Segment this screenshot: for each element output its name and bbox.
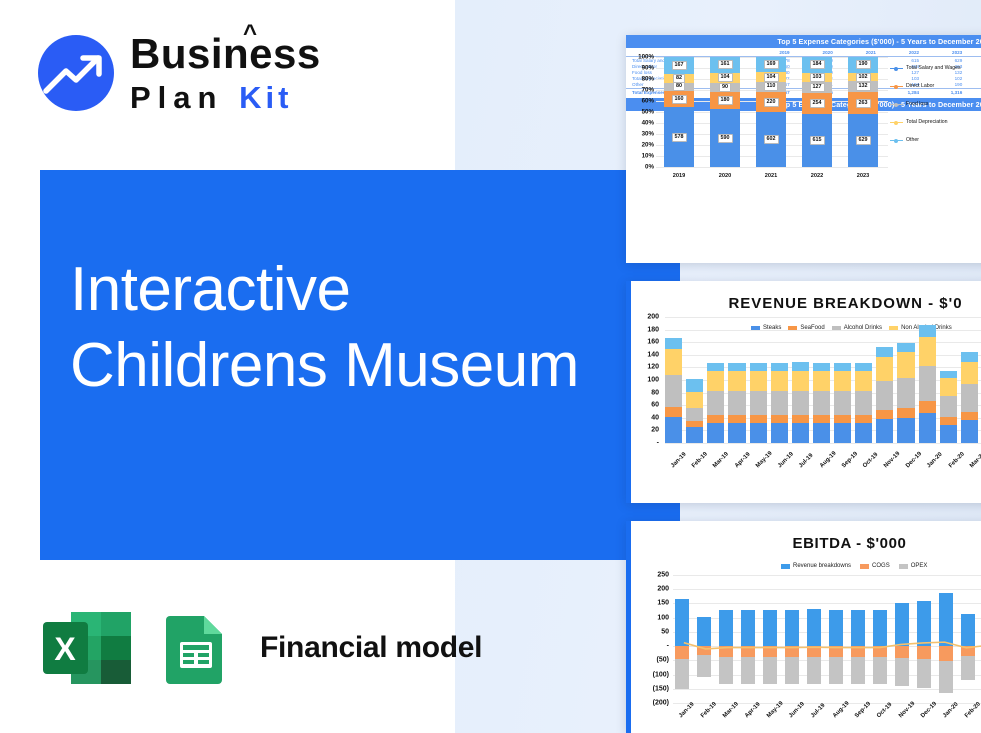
y-tick-label: 40%: [642, 120, 654, 127]
page-title: Interactive Childrens Museum: [70, 252, 610, 403]
microsoft-excel-icon: X: [38, 612, 138, 684]
bar-value-label: 629: [856, 136, 871, 145]
y-tick-label: 20%: [642, 142, 654, 149]
bar-column: [750, 317, 767, 443]
bar-segment: [728, 391, 745, 415]
bar-segment: [813, 415, 830, 423]
bar-segment: [897, 352, 914, 377]
legend-item: Direct Labor: [890, 83, 981, 89]
bar-column: [728, 317, 745, 443]
bar-segment: [834, 415, 851, 423]
brand-kit-text: Kit: [239, 80, 292, 115]
gridline: [656, 167, 888, 168]
bar-column: [876, 317, 893, 443]
bar-segment: [686, 408, 703, 421]
bar-value-label: 104: [718, 73, 733, 82]
bar-value-label: 184: [810, 60, 825, 69]
y-tick-label: 40: [651, 414, 659, 421]
bar-segment: 102: [848, 73, 878, 82]
y-tick-label: 140: [647, 351, 659, 358]
bar-segment: [897, 343, 914, 352]
legend-marker: [890, 86, 903, 87]
y-tick-label: -: [657, 440, 659, 447]
bar-segment: [876, 419, 893, 443]
gridline: [665, 443, 981, 444]
y-tick-label: 10%: [642, 153, 654, 160]
bar-segment: [665, 407, 682, 416]
svg-text:X: X: [54, 631, 76, 667]
bar-segment: [919, 401, 936, 413]
bar-segment: [686, 427, 703, 443]
bar-segment: [897, 408, 914, 418]
y-tick-label: 100: [657, 614, 669, 621]
expense-legend: Total Salary and WagesDirect LaborFood l…: [890, 65, 981, 155]
bar-segment: [961, 384, 978, 411]
y-tick-label: 0%: [645, 164, 654, 171]
bar-value-label: 578: [672, 133, 687, 142]
bar-segment: [961, 362, 978, 385]
bar-segment: [940, 371, 957, 378]
bar-segment: [771, 415, 788, 423]
bar-value-label: 590: [718, 134, 733, 143]
legend-label: Total Salary and Wages: [906, 65, 961, 71]
google-sheets-icon: [160, 612, 232, 684]
y-tick-label: 90%: [642, 65, 654, 72]
legend-label: Total Depreciation: [906, 119, 948, 125]
bar-segment: [919, 337, 936, 367]
revenue-breakdown-card[interactable]: REVENUE BREAKDOWN - $'0 SteaksSeaFoodAlc…: [626, 281, 981, 503]
y-tick-label: 80%: [642, 76, 654, 83]
table-header-row: 2019 2020 2021 2022 2023: [626, 48, 981, 57]
bar-segment: [771, 423, 788, 443]
bar-value-label: 103: [810, 73, 825, 82]
bar-segment: [771, 391, 788, 415]
x-tick-label: 2023: [848, 173, 878, 179]
y-tick-label: (100): [653, 671, 669, 678]
y-tick-label: 100: [647, 377, 659, 384]
y-tick-label: 30%: [642, 131, 654, 138]
bar-value-label: 160: [672, 95, 687, 104]
bar-segment: [940, 378, 957, 396]
bar-segment: [834, 363, 851, 371]
legend-label: COGS: [872, 563, 890, 569]
bar-value-label: 102: [856, 73, 871, 82]
bar-segment: [728, 415, 745, 423]
bar-segment: 180: [710, 92, 740, 110]
bar-segment: [876, 410, 893, 419]
x-tick-label: 2019: [664, 173, 694, 179]
bar-segment: [792, 391, 809, 415]
bar-segment: [876, 381, 893, 410]
legend-swatch: [781, 564, 790, 569]
bar-segment: 220: [756, 92, 786, 112]
bar-segment: 127: [802, 82, 832, 93]
ebitda-chart-title: EBITDA - $'000: [701, 535, 981, 552]
bar-column: 1841031272546152022: [802, 57, 832, 167]
bar-segment: [897, 378, 914, 408]
bar-segment: 263: [848, 92, 878, 114]
expense-stacked-percent-chart: 100%90%80%70%60%50%40%30%20%10%0% 167828…: [630, 57, 888, 181]
bar-segment: [961, 412, 978, 421]
y-tick-label: 70%: [642, 87, 654, 94]
bar-segment: [750, 371, 767, 391]
bar-segment: 629: [848, 114, 878, 167]
bar-segment: [792, 423, 809, 443]
bar-segment: 602: [756, 112, 786, 167]
bar-segment: [792, 371, 809, 391]
bar-segment: [665, 417, 682, 443]
brand-name-line2: Plan Kit: [130, 82, 321, 113]
ebitda-y-axis: 25020015010050-(50)(100)(150)(200): [635, 575, 673, 713]
bar-value-label: 127: [810, 83, 825, 92]
bar-value-label: 602: [764, 135, 779, 144]
bar-column: [855, 317, 872, 443]
bar-segment: [728, 371, 745, 391]
bar-value-label: 220: [764, 98, 779, 107]
bar-segment: 160: [664, 91, 694, 107]
bar-segment: 254: [802, 93, 832, 115]
bar-value-label: 161: [718, 60, 733, 69]
bar-segment: [813, 423, 830, 443]
bar-segment: [834, 391, 851, 415]
bar-segment: [834, 371, 851, 391]
y-tick-label: 160: [647, 339, 659, 346]
bar-segment: [686, 392, 703, 408]
bar-segment: [707, 423, 724, 443]
growth-arrow-circle-icon: [36, 33, 116, 113]
col-2020: 2020: [796, 48, 839, 57]
bar-segment: 578: [664, 107, 694, 167]
bar-column: [961, 317, 978, 443]
y-tick-label: 250: [657, 572, 669, 579]
brand-plan-text: Plan: [130, 80, 223, 115]
bar-segment: 615: [802, 114, 832, 167]
bar-segment: 80: [664, 83, 694, 91]
col-2023: 2023: [925, 48, 968, 57]
revenue-plot: 20018016014012010080604020-: [635, 317, 981, 462]
y-tick-label: (50): [657, 657, 669, 664]
y-tick-label: (200): [653, 700, 669, 707]
bar-value-label: 190: [856, 60, 871, 69]
bar-segment: [940, 396, 957, 417]
bar-segment: [665, 349, 682, 375]
bar-column: [686, 317, 703, 443]
bar-segment: [876, 347, 893, 357]
bar-segment: [834, 423, 851, 443]
legend-marker: [890, 140, 903, 141]
bar-value-label: 110: [764, 82, 779, 91]
y-tick-label: 20: [651, 427, 659, 434]
bar-segment: 590: [710, 109, 740, 167]
bar-segment: [771, 363, 788, 371]
file-format-row: X Financial model: [38, 612, 482, 684]
legend-marker: [890, 122, 903, 123]
bar-value-label: 254: [810, 99, 825, 108]
y-tick-label: 200: [647, 314, 659, 321]
bar-segment: 132: [848, 81, 878, 92]
bar-segment: [961, 420, 978, 443]
revenue-chart-title: REVENUE BREAKDOWN - $'0: [693, 295, 981, 312]
bar-column: [919, 317, 936, 443]
col-2021: 2021: [839, 48, 882, 57]
bar-value-label: 104: [764, 73, 779, 82]
legend-label: Food loss: [906, 101, 929, 107]
bar-segment: [750, 415, 767, 423]
legend-label: OPEX: [911, 563, 928, 569]
ebitda-card[interactable]: EBITDA - $'000 Revenue breakdownsCOGSOPE…: [626, 521, 981, 733]
bar-segment: [686, 379, 703, 392]
table-cell: 615: [882, 57, 925, 64]
legend-item: Total Depreciation: [890, 119, 981, 125]
y-tick-label: 150: [657, 600, 669, 607]
bar-segment: [707, 363, 724, 371]
legend-label: Other: [906, 137, 919, 143]
bar-segment: 169: [756, 57, 786, 72]
bar-column: 161104901805902020: [710, 57, 740, 167]
revenue-y-axis: 20018016014012010080604020-: [635, 317, 661, 462]
bar-column: [834, 317, 851, 443]
bar-segment: [855, 371, 872, 391]
bar-column: [707, 317, 724, 443]
bar-column: [771, 317, 788, 443]
legend-label: Revenue breakdowns: [793, 563, 851, 569]
bar-segment: 103: [802, 73, 832, 82]
bar-column: [897, 317, 914, 443]
bar-segment: 161: [710, 57, 740, 73]
bar-segment: [855, 415, 872, 423]
bar-segment: [707, 371, 724, 391]
bar-segment: [728, 363, 745, 371]
bar-column: [792, 317, 809, 443]
bar-value-label: 615: [810, 136, 825, 145]
bar-segment: [707, 391, 724, 415]
y-tick-label: (150): [653, 685, 669, 692]
y-tick-label: 60: [651, 402, 659, 409]
brand-name-line1: Business ^: [130, 33, 321, 75]
y-tick-label: 60%: [642, 98, 654, 105]
expense-bars: 1678280160578201916110490180590202016910…: [656, 57, 886, 167]
financial-model-label: Financial model: [260, 631, 482, 665]
table-cell: 629: [925, 57, 968, 64]
y-tick-label: 180: [647, 326, 659, 333]
col-2019: 2019: [752, 48, 795, 57]
bar-segment: [855, 391, 872, 415]
legend-label: Direct Labor: [906, 83, 934, 89]
bar-column: [940, 317, 957, 443]
col-2022: 2022: [882, 48, 925, 57]
bar-value-label: 263: [856, 99, 871, 108]
bar-value-label: 90: [719, 83, 731, 92]
legend-item: Other: [890, 137, 981, 143]
legend-item: COGS: [860, 563, 890, 569]
legend-item: Revenue breakdowns: [781, 563, 851, 569]
bar-segment: [707, 415, 724, 423]
y-tick-label: 200: [657, 586, 669, 593]
bar-segment: [813, 371, 830, 391]
x-tick-label: 2022: [802, 173, 832, 179]
bar-column: [665, 317, 682, 443]
y-tick-label: -: [667, 643, 669, 650]
brand-logo: Business ^ Plan Kit: [36, 33, 321, 113]
expense-table-title: Top 5 Expense Categories ($'000) - 5 Yea…: [626, 35, 981, 48]
bar-segment: [665, 338, 682, 349]
bar-segment: [897, 418, 914, 443]
bar-segment: 104: [710, 73, 740, 83]
y-tick-label: 120: [647, 364, 659, 371]
bar-segment: [771, 371, 788, 391]
bar-value-label: 169: [764, 60, 779, 69]
x-tick-label: 2020: [710, 173, 740, 179]
bar-segment: [750, 363, 767, 371]
y-tick-label: 50: [661, 628, 669, 635]
slide-root: Business ^ Plan Kit Interactive Children…: [0, 0, 981, 733]
bar-column: [813, 317, 830, 443]
bar-segment: 184: [802, 57, 832, 73]
bar-segment: 190: [848, 57, 878, 73]
bar-value-label: 180: [718, 96, 733, 105]
ebitda-plot: 25020015010050-(50)(100)(150)(200): [635, 575, 981, 713]
legend-marker: [890, 68, 903, 69]
legend-swatch: [860, 564, 869, 569]
bar-segment: [792, 362, 809, 371]
brand-business-text: Business: [130, 30, 321, 77]
bar-value-label: 167: [672, 61, 687, 70]
bar-segment: [665, 375, 682, 407]
bar-segment: 110: [756, 82, 786, 92]
bar-segment: [876, 357, 893, 381]
bar-segment: [855, 423, 872, 443]
bar-segment: [961, 352, 978, 361]
legend-item: Food loss: [890, 101, 981, 107]
ebitda-legend: Revenue breakdownsCOGSOPEX: [781, 563, 927, 569]
y-tick-label: 50%: [642, 109, 654, 116]
legend-swatch: [899, 564, 908, 569]
legend-item: Total Salary and Wages: [890, 65, 981, 71]
bar-segment: [919, 413, 936, 443]
bar-segment: [792, 415, 809, 423]
bar-segment: 90: [710, 83, 740, 92]
y-tick-label: 80: [651, 389, 659, 396]
bar-segment: 167: [664, 57, 694, 74]
bar-column: 1691041102206022021: [756, 57, 786, 167]
brand-hat-accent: ^: [243, 22, 258, 46]
bar-segment: 104: [756, 72, 786, 81]
bar-column: 16782801605782019: [664, 57, 694, 167]
expense-y-axis: 100%90%80%70%60%50%40%30%20%10%0%: [630, 57, 656, 181]
bar-segment: [750, 391, 767, 415]
bar-segment: [919, 325, 936, 337]
bar-value-label: 132: [856, 82, 871, 91]
bar-segment: [813, 391, 830, 415]
bar-segment: [813, 363, 830, 371]
y-tick-label: 100%: [638, 54, 654, 61]
bar-segment: [940, 425, 957, 443]
bar-segment: [728, 423, 745, 443]
bar-segment: [919, 366, 936, 401]
bar-segment: [750, 423, 767, 443]
expense-categories-card[interactable]: Top 5 Expense Categories ($'000) - 5 Yea…: [626, 35, 981, 263]
bar-column: 1901021322636292023: [848, 57, 878, 167]
legend-item: OPEX: [899, 563, 928, 569]
bar-segment: [940, 417, 957, 425]
x-tick-label: 2021: [756, 173, 786, 179]
bar-segment: [855, 363, 872, 371]
revenue-bars: [665, 317, 981, 443]
legend-marker: [890, 104, 903, 105]
